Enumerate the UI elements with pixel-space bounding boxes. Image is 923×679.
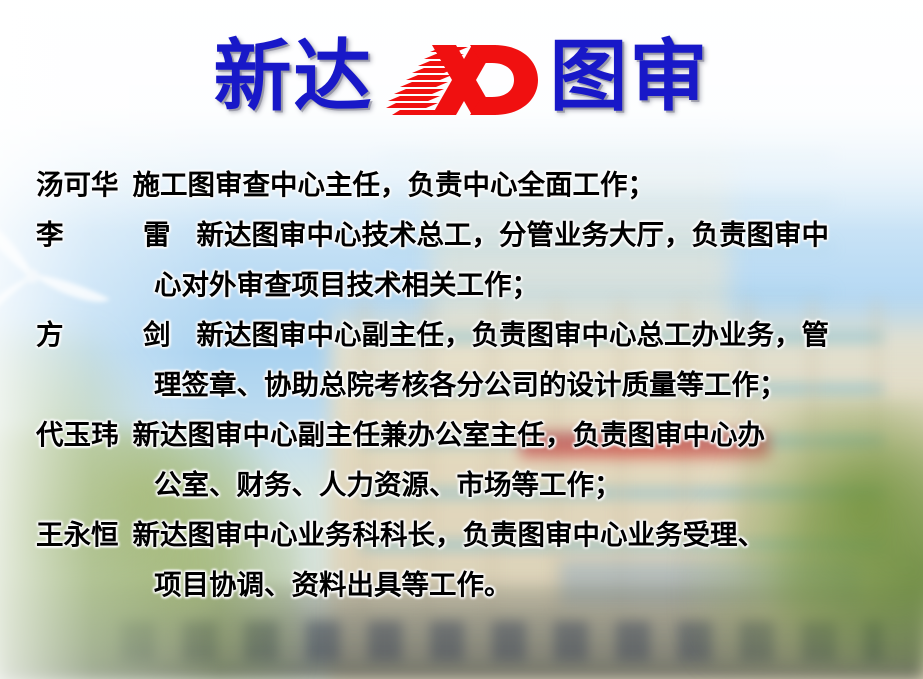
person-name: 汤可华 (36, 169, 119, 201)
person-name: 代玉玮 (36, 419, 119, 451)
person-duty: 新达图审中心业务科科长，负责图审中心业务受理、 (133, 519, 766, 551)
person-name: 王永恒 (36, 519, 119, 551)
xd-logo-icon (386, 41, 538, 119)
person-duty: 施工图审查中心主任，负责中心全面工作； (133, 169, 656, 201)
slide-title: 新达 (0, 22, 923, 132)
person-duty-continued: 公室、财务、人力资源、市场等工作； (154, 469, 622, 501)
roster-line: 李 雷新达图审中心技术总工，分管业务大厅，负责图审中 (36, 210, 911, 260)
person-duty: 新达图审中心副主任兼办公室主任，负责图审中心办 (133, 419, 766, 451)
person-duty: 新达图审中心副主任，负责图审中心总工办业务，管 (197, 319, 830, 351)
person-duty-continued: 理签章、协助总院考核各分公司的设计质量等工作； (154, 369, 787, 401)
roster-line-continuation: 项目协调、资料出具等工作。 (36, 560, 911, 610)
person-duty-continued: 项目协调、资料出具等工作。 (154, 569, 512, 601)
person-duty-continued: 心对外审查项目技术相关工作； (154, 269, 539, 301)
roster-line: 代玉玮新达图审中心副主任兼办公室主任，负责图审中心办 (36, 410, 911, 460)
person-duty: 新达图审中心技术总工，分管业务大厅，负责图审中 (197, 219, 830, 251)
title-text-right: 图审 (550, 38, 710, 116)
roster-line-continuation: 理签章、协助总院考核各分公司的设计质量等工作； (36, 360, 911, 410)
title-text-left: 新达 (213, 38, 373, 116)
person-name: 李 雷 (36, 219, 197, 251)
person-name: 方 剑 (36, 319, 197, 351)
roster-line: 汤可华施工图审查中心主任，负责中心全面工作； (36, 160, 911, 210)
staff-roster-list: 汤可华施工图审查中心主任，负责中心全面工作； 李 雷新达图审中心技术总工，分管业… (36, 160, 911, 610)
roster-line-continuation: 公室、财务、人力资源、市场等工作； (36, 460, 911, 510)
roster-line: 方 剑新达图审中心副主任，负责图审中心总工办业务，管 (36, 310, 911, 360)
roster-line-continuation: 心对外审查项目技术相关工作； (36, 260, 911, 310)
presentation-slide: 新达 (0, 0, 923, 679)
roster-line: 王永恒新达图审中心业务科科长，负责图审中心业务受理、 (36, 510, 911, 560)
